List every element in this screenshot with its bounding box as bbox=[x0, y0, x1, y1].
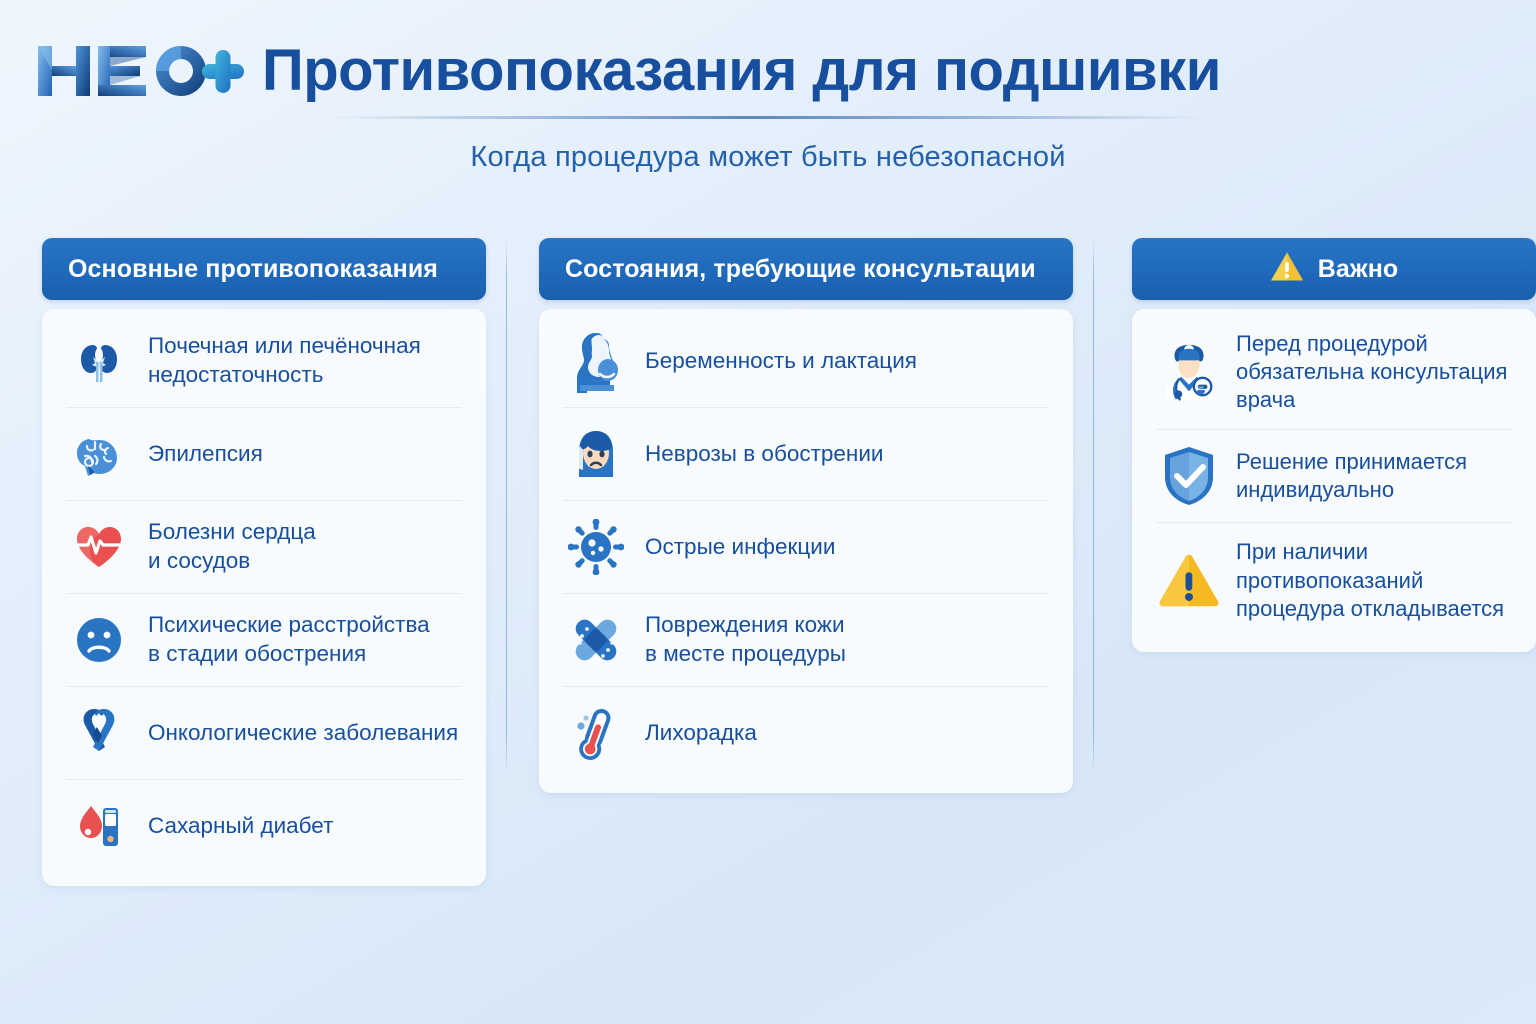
pregnant-woman-icon bbox=[565, 330, 627, 392]
title-underline bbox=[328, 116, 1208, 119]
warning-triangle-icon bbox=[1158, 550, 1220, 612]
virus-icon bbox=[565, 516, 627, 578]
thermometer-icon bbox=[565, 702, 627, 764]
list-item[interactable]: Болезни сердца и сосудов bbox=[66, 501, 462, 594]
column-1-header-label: Основные противопоказания bbox=[68, 255, 438, 284]
title-row: Противопоказания для подшивки bbox=[0, 40, 1536, 102]
list-item-label: Повреждения кожи в месте процедуры bbox=[645, 611, 846, 669]
kidneys-icon bbox=[68, 330, 130, 392]
list-item[interactable]: Психические расстройства в стадии обостр… bbox=[66, 594, 462, 687]
page-title: Противопоказания для подшивки bbox=[262, 41, 1221, 102]
page-subtitle: Когда процедура может быть небезопасной bbox=[0, 141, 1536, 174]
list-item-label: Беременность и лактация bbox=[645, 347, 917, 376]
sad-face-icon bbox=[68, 609, 130, 671]
column-divider-2 bbox=[1093, 238, 1094, 774]
blood-glucose-meter-icon bbox=[68, 795, 130, 857]
list-item[interactable]: Повреждения кожи в месте процедуры bbox=[563, 594, 1049, 687]
columns-container: Основные противопоказания Почечная или п… bbox=[0, 238, 1536, 886]
list-item-label: Неврозы в обострении bbox=[645, 440, 884, 469]
bandage-icon bbox=[565, 609, 627, 671]
list-item-label: Болезни сердца и сосудов bbox=[148, 518, 316, 576]
list-item[interactable]: Острые инфекции bbox=[563, 501, 1049, 594]
list-item-label: Эпилепсия bbox=[148, 440, 263, 469]
list-item[interactable]: Лихорадка bbox=[563, 687, 1049, 779]
list-item[interactable]: Неврозы в обострении bbox=[563, 408, 1049, 501]
doctor-icon bbox=[1158, 341, 1220, 403]
anxious-woman-icon bbox=[565, 423, 627, 485]
list-item-label: При наличии противопоказаний процедура о… bbox=[1236, 538, 1504, 622]
column-2-header-label: Состояния, требующие консультации bbox=[565, 255, 1036, 284]
list-item-label: Сахарный диабет bbox=[148, 812, 333, 841]
list-item-label: Психические расстройства в стадии обостр… bbox=[148, 611, 430, 669]
list-item-label: Перед процедурой обязательна консультаци… bbox=[1236, 330, 1507, 414]
list-item[interactable]: Беременность и лактация bbox=[563, 315, 1049, 408]
page-header: Противопоказания для подшивки Когда проц… bbox=[0, 0, 1536, 174]
awareness-ribbon-icon bbox=[68, 702, 130, 764]
list-item[interactable]: Решение принимается индивидуально bbox=[1156, 430, 1512, 523]
column-1-header: Основные противопоказания bbox=[42, 238, 486, 300]
list-item[interactable]: Онкологические заболевания bbox=[66, 687, 462, 780]
column-2-header: Состояния, требующие консультации bbox=[539, 238, 1073, 300]
heart-pulse-icon bbox=[68, 516, 130, 578]
neo-plus-logo-icon bbox=[36, 40, 244, 102]
list-item[interactable]: Сахарный диабет bbox=[66, 780, 462, 872]
column-divider-1 bbox=[506, 238, 507, 774]
column-consultation-required: Состояния, требующие консультации Береме… bbox=[539, 238, 1073, 793]
shield-check-icon bbox=[1158, 445, 1220, 507]
column-1-body: Почечная или печёночная недостаточность bbox=[42, 309, 486, 886]
list-item[interactable]: Эпилепсия bbox=[66, 408, 462, 501]
column-2-body: Беременность и лактация Неврозы в обостр… bbox=[539, 309, 1073, 793]
list-item-label: Лихорадка bbox=[645, 719, 757, 748]
list-item-label: Онкологические заболевания bbox=[148, 719, 458, 748]
list-item[interactable]: Почечная или печёночная недостаточность bbox=[66, 315, 462, 408]
list-item[interactable]: Перед процедурой обязательна консультаци… bbox=[1156, 315, 1512, 430]
column-main-contraindications: Основные противопоказания Почечная или п… bbox=[42, 238, 486, 886]
list-item-label: Почечная или печёночная недостаточность bbox=[148, 332, 421, 390]
column-3-body: Перед процедурой обязательна консультаци… bbox=[1132, 309, 1536, 652]
warning-triangle-icon bbox=[1270, 251, 1304, 287]
column-important: Важно bbox=[1132, 238, 1536, 652]
list-item-label: Решение принимается индивидуально bbox=[1236, 448, 1467, 504]
brain-icon bbox=[68, 423, 130, 485]
column-3-header: Важно bbox=[1132, 238, 1536, 300]
brand-logo bbox=[36, 40, 244, 102]
column-3-header-label: Важно bbox=[1318, 255, 1399, 284]
list-item-label: Острые инфекции bbox=[645, 533, 835, 562]
list-item[interactable]: При наличии противопоказаний процедура о… bbox=[1156, 523, 1512, 637]
